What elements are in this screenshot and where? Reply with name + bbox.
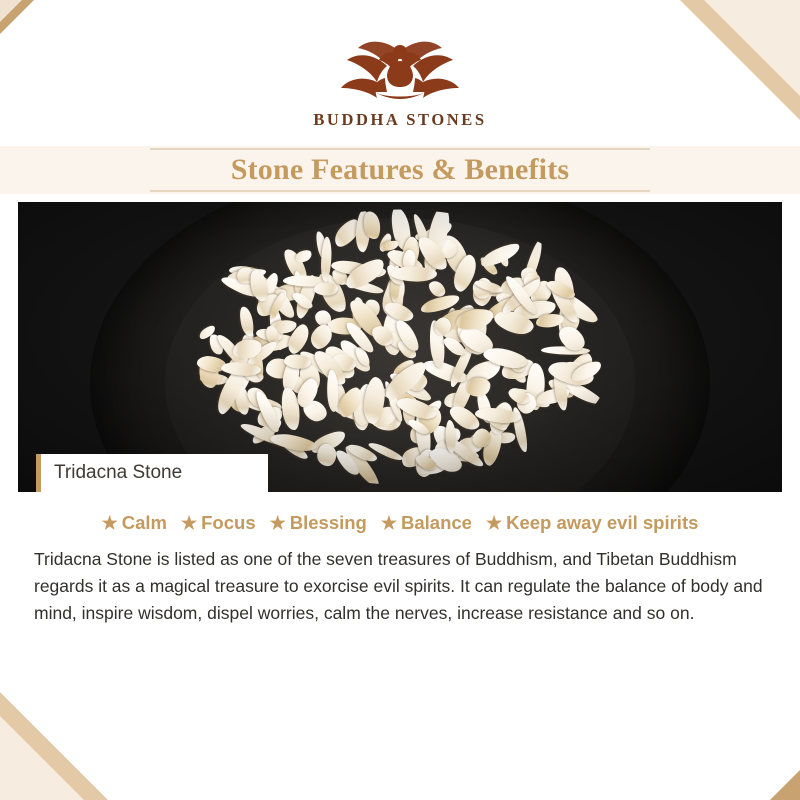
stone-name-label: Tridacna Stone [36,454,268,492]
stone-chip [239,306,256,338]
benefit-label: Keep away evil spirits [506,512,698,534]
star-icon: ★ [270,514,286,532]
corner-decoration-bottom-left-inner [0,716,84,800]
stone-chip [294,248,314,265]
benefit-item: ★Balance [381,512,472,534]
brand-header: BUDDHA STONES [0,0,800,130]
star-icon: ★ [102,514,118,532]
stone-chip [247,269,270,304]
label-accent-bar [36,454,41,492]
benefit-item: ★Calm [102,512,167,534]
stone-pile-graphic [185,210,615,485]
star-icon: ★ [486,514,502,532]
stone-chip [317,444,337,467]
title-rule-top [150,148,650,150]
corner-decoration-bottom-right [770,770,800,800]
benefit-item: ★Keep away evil spirits [486,512,698,534]
product-photo: Tridacna Stone [18,202,782,492]
star-icon: ★ [381,514,397,532]
benefit-label: Focus [201,512,255,534]
benefit-label: Calm [122,512,167,534]
lotus-meditation-icon [325,26,475,104]
title-rule-bottom [150,190,650,192]
benefit-label: Blessing [290,512,367,534]
star-icon: ★ [181,514,197,532]
stone-chip [478,240,522,270]
stone-name: Tridacna Stone [54,462,182,484]
stone-description: Tridacna Stone is listed as one of the s… [34,546,766,627]
section-title-band: Stone Features & Benefits [0,146,800,194]
benefits-list: ★Calm★Focus★Blessing★Balance★Keep away e… [34,512,766,534]
benefit-label: Balance [401,512,472,534]
content-section: ★Calm★Focus★Blessing★Balance★Keep away e… [0,492,800,627]
page-title: Stone Features & Benefits [231,153,570,187]
stone-chip [466,377,492,398]
brand-name: BUDDHA STONES [0,110,800,130]
benefit-item: ★Blessing [270,512,367,534]
benefit-item: ★Focus [181,512,256,534]
